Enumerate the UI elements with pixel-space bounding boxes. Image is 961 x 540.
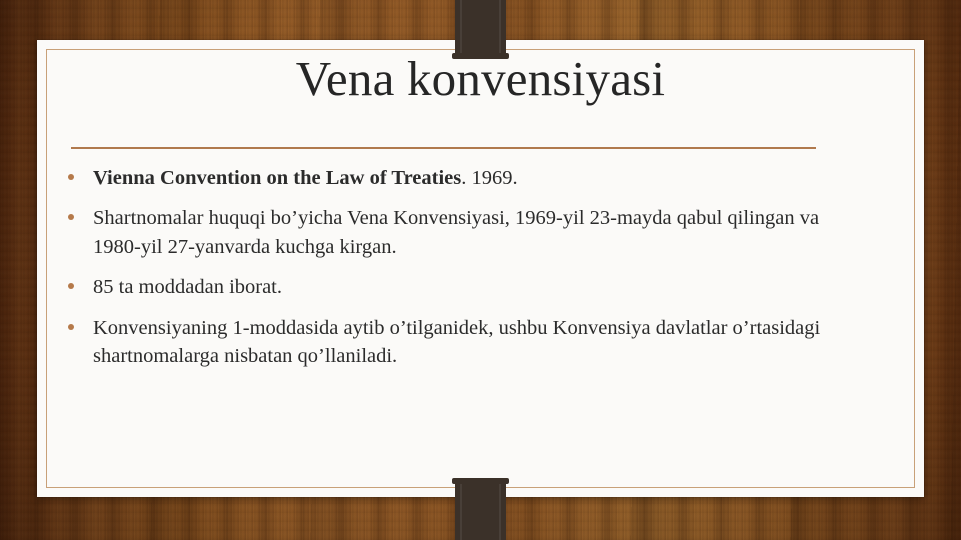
bullet-dot-icon [68, 283, 74, 289]
slide-title: Vena konvensiyasi [70, 52, 891, 106]
bullet-text: . 1969. [461, 167, 517, 189]
bullet-text: 85 ta moddadan iborat. [93, 276, 282, 298]
clip-shine-right-bottom [499, 478, 501, 540]
clip-shine-left [460, 0, 462, 59]
list-item: Vienna Convention on the Law of Treaties… [62, 164, 852, 192]
clip-shine-left-bottom [460, 478, 462, 540]
list-item: Konvensiyaning 1-moddasida aytib o’tilga… [62, 314, 852, 371]
bullet-dot-icon [68, 174, 74, 180]
bullet-text: Konvensiyaning 1-moddasida aytib o’tilga… [93, 317, 820, 367]
list-item: Shartnomalar huquqi bo’yicha Vena Konven… [62, 204, 852, 261]
clip-lip-top [452, 53, 509, 59]
bullet-dot-icon [68, 214, 74, 220]
bullet-dot-icon [68, 324, 74, 330]
list-item: 85 ta moddadan iborat. [62, 273, 852, 301]
binder-clip-top [455, 0, 506, 59]
binder-clip-bottom [455, 478, 506, 540]
slide-content: Vena konvensiyasi Vienna Convention on t… [0, 0, 961, 540]
clip-lip-bottom [452, 478, 509, 484]
slide-canvas: Vena konvensiyasi Vienna Convention on t… [0, 0, 961, 540]
bullet-list: Vienna Convention on the Law of Treaties… [62, 164, 852, 383]
title-divider-rule [71, 147, 816, 149]
bullet-text: Shartnomalar huquqi bo’yicha Vena Konven… [93, 207, 819, 257]
bullet-bold-text: Vienna Convention on the Law of Treaties [93, 167, 461, 189]
clip-shine-right [499, 0, 501, 59]
